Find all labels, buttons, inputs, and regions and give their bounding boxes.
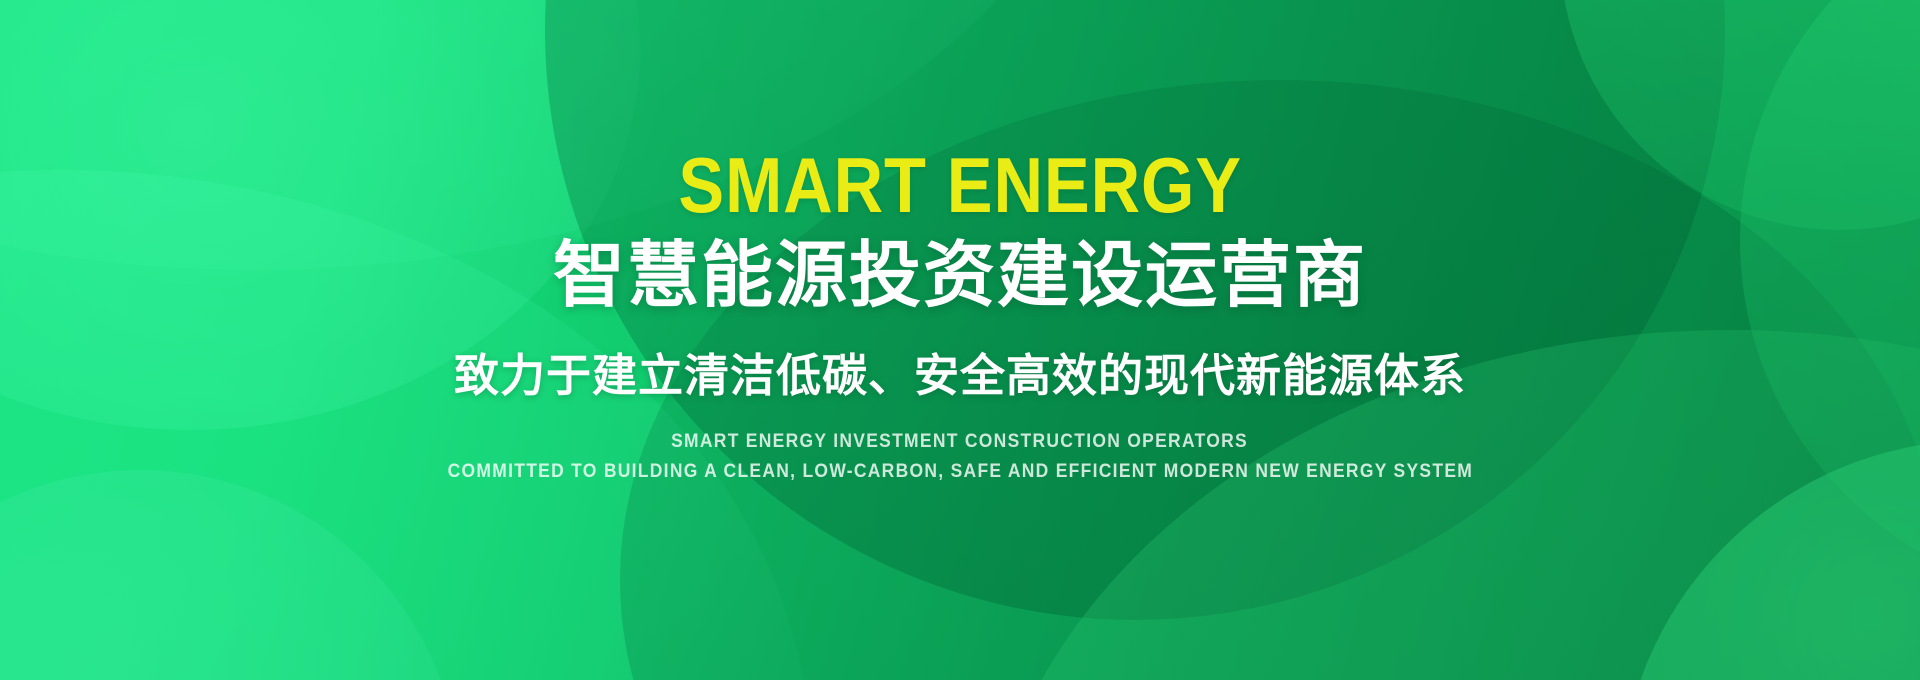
headline-chinese: 智慧能源投资建设运营商	[553, 238, 1367, 314]
subtitle-english-line-2: COMMITTED TO BUILDING A CLEAN, LOW-CARBO…	[447, 461, 1473, 483]
subheadline-chinese: 致力于建立清洁低碳、安全高效的现代新能源体系	[454, 351, 1466, 401]
banner-content: SMART ENERGY 智慧能源投资建设运营商 致力于建立清洁低碳、安全高效的…	[0, 0, 1920, 680]
headline-english: SMART ENERGY	[678, 150, 1242, 222]
subtitle-english-line-1: SMART ENERGY INVESTMENT CONSTRUCTION OPE…	[672, 431, 1249, 453]
hero-banner: SMART ENERGY 智慧能源投资建设运营商 致力于建立清洁低碳、安全高效的…	[0, 0, 1920, 680]
